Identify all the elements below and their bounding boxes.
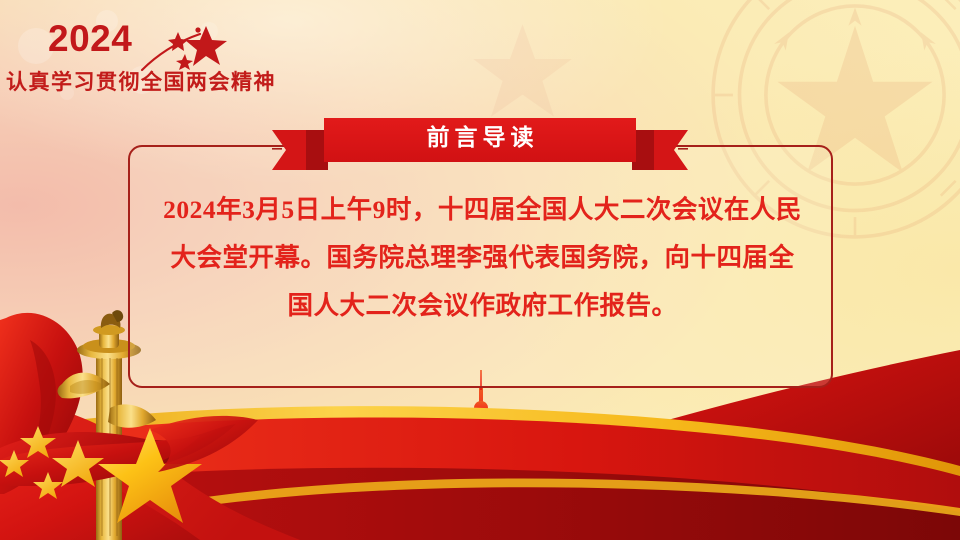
section-ribbon-banner (272, 112, 688, 174)
star-watermark-icon (470, 18, 575, 123)
body-paragraph: 2024年3月5日上午9时，十四届全国人大二次会议在人民大会堂开幕。国务院总理李… (160, 186, 805, 330)
page-title: 2024 (48, 20, 132, 57)
slide-canvas: 2024 认真学习贯彻全国两会精神 2024年3月5日上午9时，十四届全国人大二… (0, 0, 960, 540)
slogan-text: 认真学习贯彻全国两会精神 (6, 66, 276, 96)
header-logo-block: 2024 认真学习贯彻全国两会精神 (0, 8, 230, 98)
